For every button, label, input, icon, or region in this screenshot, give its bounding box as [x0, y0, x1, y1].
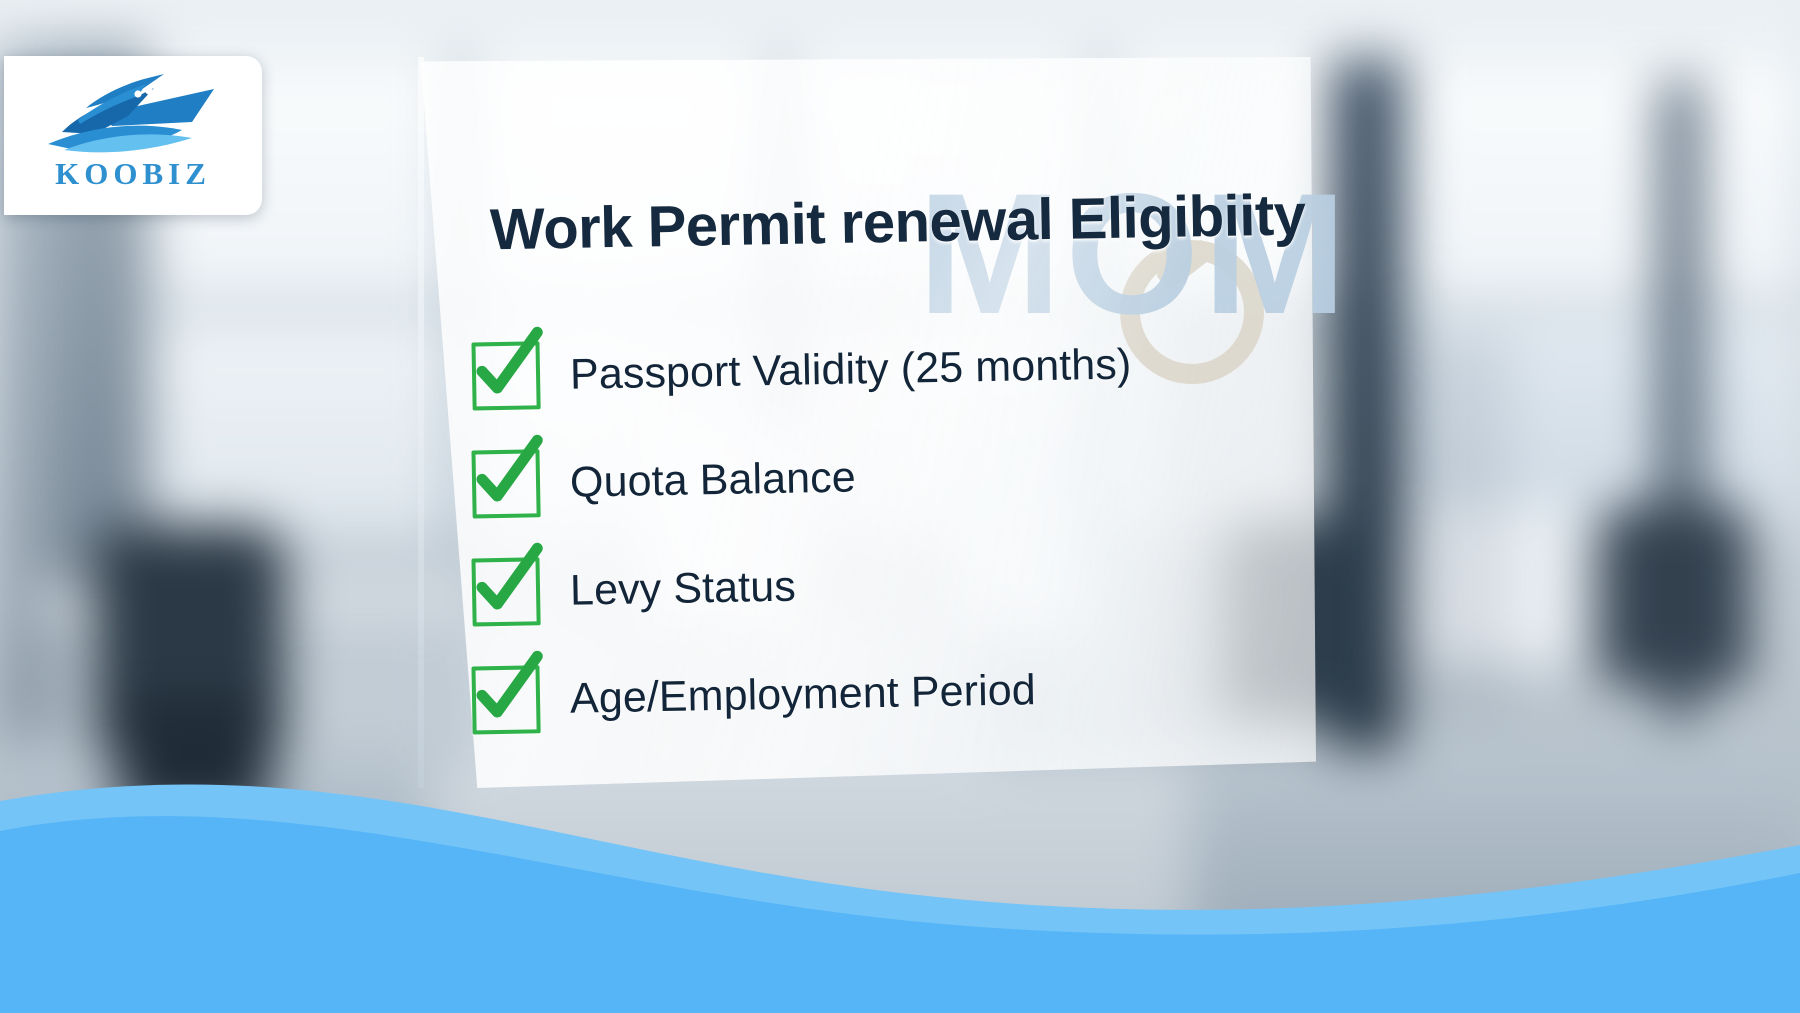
slide-canvas: MOM Work Permit renewal Eligibiity Passp… — [0, 0, 1800, 1013]
checked-checkbox-icon[interactable] — [471, 449, 540, 518]
ship-wave-icon — [42, 70, 228, 160]
brand-name: KOOBIZ — [4, 156, 262, 192]
checklist-item-quota-balance[interactable]: Quota Balance — [471, 415, 1293, 538]
ceiling-strip — [0, 0, 1800, 20]
wave-decoration-front — [0, 713, 1800, 1013]
checklist-item-passport-validity[interactable]: Passport Validity (25 months) — [471, 307, 1293, 430]
brand-logo-badge[interactable]: KOOBIZ — [4, 56, 262, 215]
checklist-item-label: Quota Balance — [570, 453, 857, 507]
checklist-item-label: Passport Validity (25 months) — [570, 340, 1132, 399]
page-title: Work Permit renewal Eligibiity — [489, 182, 1290, 264]
checked-checkbox-icon[interactable] — [471, 341, 540, 410]
